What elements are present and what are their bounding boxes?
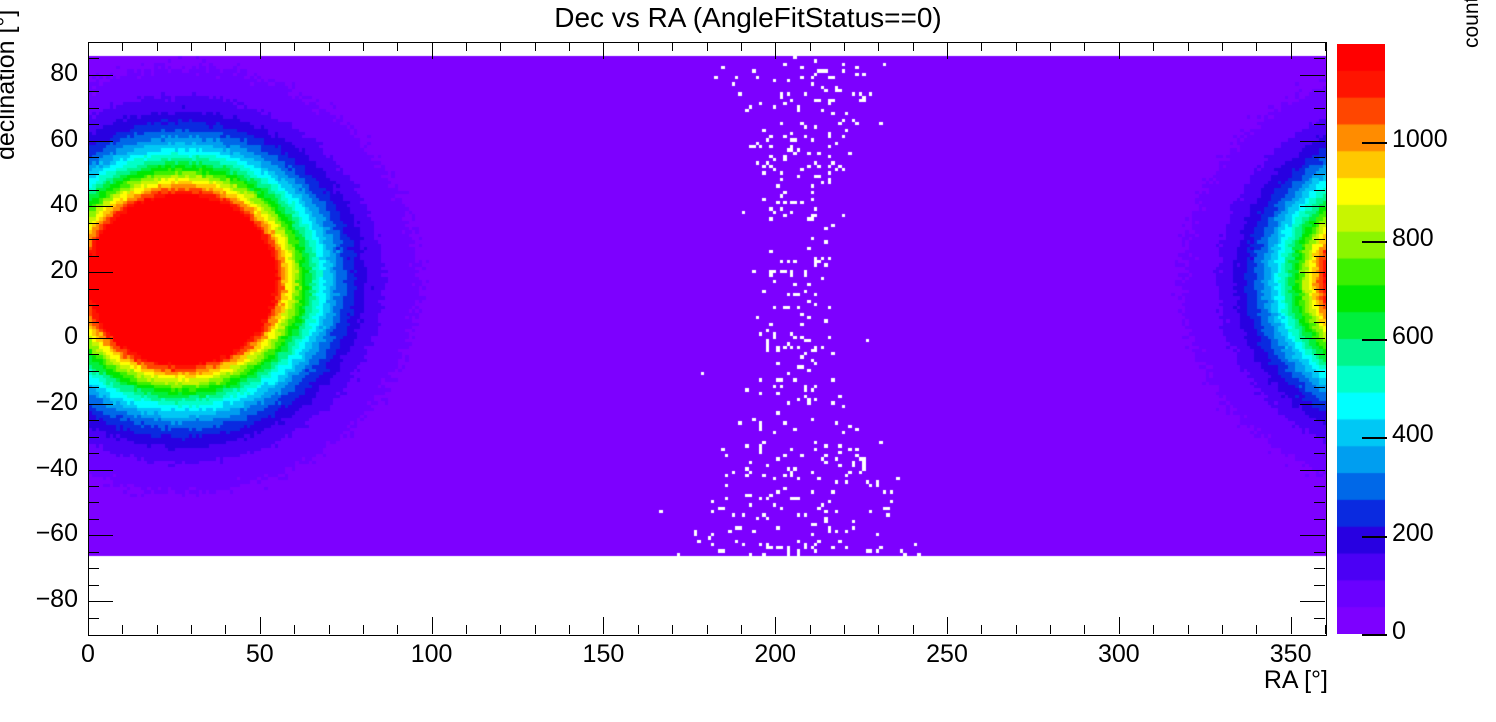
y-tick — [88, 174, 99, 175]
x-tick-top — [1222, 42, 1223, 51]
y-axis-title: declination [°] — [0, 10, 21, 160]
x-tick-top — [397, 42, 398, 51]
y-tick — [88, 190, 99, 191]
y-tick — [88, 601, 113, 602]
x-tick-top — [878, 42, 879, 51]
x-tick — [913, 625, 914, 634]
y-tick-right — [1314, 585, 1325, 586]
x-tick-top — [157, 42, 158, 51]
x-tick — [1084, 625, 1085, 634]
y-tick — [88, 437, 99, 438]
y-tick-right — [1314, 157, 1325, 158]
y-tick-right — [1300, 75, 1325, 76]
y-tick — [88, 108, 99, 109]
x-tick — [466, 625, 467, 634]
x-tick — [1222, 625, 1223, 634]
y-tick-right — [1300, 141, 1325, 142]
x-tick-top — [672, 42, 673, 51]
y-tick — [88, 618, 99, 619]
y-tick — [88, 552, 99, 553]
y-tick-right — [1314, 239, 1325, 240]
x-tick — [947, 617, 948, 634]
plot-frame — [88, 42, 1327, 636]
x-tick — [329, 625, 330, 634]
y-tick — [88, 75, 113, 76]
y-tick — [88, 519, 99, 520]
y-tick — [88, 305, 99, 306]
x-tick-top — [500, 42, 501, 51]
color-scale-tick-label: 1000 — [1392, 125, 1448, 154]
y-tick-label: 20 — [0, 256, 78, 285]
color-scale-tick — [1362, 142, 1387, 144]
x-tick-top — [1084, 42, 1085, 51]
x-tick-top — [775, 42, 776, 59]
y-tick — [88, 223, 99, 224]
color-scale-tick — [1362, 536, 1387, 538]
color-scale-tick-label: 400 — [1392, 420, 1434, 449]
y-tick — [88, 387, 99, 388]
x-tick-top — [225, 42, 226, 51]
y-tick — [88, 486, 99, 487]
y-tick-right — [1314, 256, 1325, 257]
x-tick — [500, 625, 501, 634]
y-tick-right — [1314, 552, 1325, 553]
y-tick-right — [1314, 453, 1325, 454]
color-scale-tick-label: 600 — [1392, 322, 1434, 351]
y-tick-right — [1314, 437, 1325, 438]
y-tick — [88, 568, 99, 569]
y-tick-label: 0 — [0, 322, 78, 351]
x-tick-top — [260, 42, 261, 59]
y-tick — [88, 124, 99, 125]
x-tick — [1016, 625, 1017, 634]
color-scale-tick-label: 0 — [1392, 617, 1406, 646]
x-tick — [981, 625, 982, 634]
y-tick-right — [1314, 58, 1325, 59]
color-scale-tick-label: 800 — [1392, 224, 1434, 253]
y-tick-right — [1314, 322, 1325, 323]
x-tick-top — [741, 42, 742, 51]
x-tick-label: 350 — [1231, 640, 1351, 669]
chart-title: Dec vs RA (AngleFitStatus==0) — [0, 2, 1496, 34]
x-tick — [1188, 625, 1189, 634]
x-tick — [741, 625, 742, 634]
x-tick — [878, 625, 879, 634]
x-tick — [294, 625, 295, 634]
x-tick — [122, 625, 123, 634]
y-tick-right — [1314, 420, 1325, 421]
x-tick-top — [1016, 42, 1017, 51]
x-tick-top — [191, 42, 192, 51]
x-tick-label: 100 — [372, 640, 492, 669]
color-scale-tick — [1362, 634, 1387, 636]
x-tick — [191, 625, 192, 634]
y-tick — [88, 585, 99, 586]
x-tick-top — [535, 42, 536, 51]
x-tick-top — [603, 42, 604, 59]
y-tick-right — [1314, 519, 1325, 520]
x-tick-top — [707, 42, 708, 51]
x-tick — [810, 625, 811, 634]
x-tick — [672, 625, 673, 634]
y-tick-right — [1300, 601, 1325, 602]
x-tick — [363, 625, 364, 634]
x-tick-top — [947, 42, 948, 59]
y-tick — [88, 502, 99, 503]
y-tick — [88, 420, 99, 421]
x-tick — [432, 617, 433, 634]
x-tick — [157, 625, 158, 634]
y-tick-right — [1314, 387, 1325, 388]
x-tick-top — [810, 42, 811, 51]
x-tick-label: 200 — [715, 640, 835, 669]
x-axis-title: RA [°] — [1264, 666, 1328, 695]
y-tick — [88, 535, 113, 536]
y-tick-right — [1314, 223, 1325, 224]
x-tick-top — [88, 42, 89, 59]
y-tick-right — [1300, 470, 1325, 471]
x-tick-label: 0 — [28, 640, 148, 669]
x-tick-label: 250 — [887, 640, 1007, 669]
y-tick — [88, 371, 99, 372]
x-tick — [88, 617, 89, 634]
y-tick-right — [1300, 535, 1325, 536]
y-tick — [88, 157, 99, 158]
x-tick-top — [122, 42, 123, 51]
y-tick — [88, 354, 99, 355]
y-tick — [88, 470, 113, 471]
x-tick-top — [1050, 42, 1051, 51]
y-tick — [88, 206, 113, 207]
y-tick-right — [1314, 568, 1325, 569]
y-tick — [88, 141, 113, 142]
x-tick — [1325, 625, 1326, 634]
x-tick-label: 150 — [543, 640, 663, 669]
y-tick — [88, 239, 99, 240]
y-tick-right — [1314, 305, 1325, 306]
y-tick — [88, 453, 99, 454]
y-tick-right — [1314, 108, 1325, 109]
x-tick — [535, 625, 536, 634]
x-tick-top — [569, 42, 570, 51]
y-tick-right — [1314, 91, 1325, 92]
x-tick — [1119, 617, 1120, 634]
x-tick — [260, 617, 261, 634]
y-tick-label: −20 — [0, 388, 78, 417]
chart-canvas: Dec vs RA (AngleFitStatus==0) 0501001502… — [0, 0, 1496, 722]
x-tick-top — [294, 42, 295, 51]
y-tick-right — [1300, 272, 1325, 273]
x-tick — [1256, 625, 1257, 634]
x-tick-label: 300 — [1059, 640, 1179, 669]
y-tick-right — [1314, 124, 1325, 125]
y-tick — [88, 338, 113, 339]
x-tick-top — [466, 42, 467, 51]
y-tick — [88, 289, 99, 290]
x-tick — [603, 617, 604, 634]
y-tick-right — [1314, 289, 1325, 290]
y-tick-right — [1300, 338, 1325, 339]
x-tick — [1291, 617, 1292, 634]
x-tick — [775, 617, 776, 634]
x-tick-top — [1188, 42, 1189, 51]
x-tick-top — [638, 42, 639, 51]
x-tick-top — [1119, 42, 1120, 59]
y-tick — [88, 58, 99, 59]
color-scale-tick-label: 200 — [1392, 519, 1434, 548]
color-scale-tick — [1362, 241, 1387, 243]
y-tick — [88, 256, 99, 257]
y-tick — [88, 272, 113, 273]
x-tick — [1153, 625, 1154, 634]
y-tick-label: −40 — [0, 454, 78, 483]
y-tick-right — [1314, 174, 1325, 175]
x-tick-top — [1256, 42, 1257, 51]
x-tick-top — [329, 42, 330, 51]
y-tick-right — [1314, 486, 1325, 487]
y-tick — [88, 91, 99, 92]
x-tick — [569, 625, 570, 634]
x-tick-top — [1153, 42, 1154, 51]
x-tick-top — [1325, 42, 1326, 51]
y-tick — [88, 322, 99, 323]
x-tick-top — [844, 42, 845, 51]
x-tick — [397, 625, 398, 634]
x-tick-top — [363, 42, 364, 51]
x-tick — [638, 625, 639, 634]
y-tick-right — [1314, 371, 1325, 372]
y-tick-label: 40 — [0, 190, 78, 219]
y-tick-right — [1314, 618, 1325, 619]
y-tick-right — [1314, 354, 1325, 355]
x-tick — [225, 625, 226, 634]
y-tick-right — [1314, 190, 1325, 191]
y-tick-label: −80 — [0, 585, 78, 614]
x-tick-top — [981, 42, 982, 51]
x-tick-top — [1291, 42, 1292, 59]
x-tick-top — [913, 42, 914, 51]
x-tick — [844, 625, 845, 634]
color-scale-tick — [1362, 437, 1387, 439]
y-tick — [88, 404, 113, 405]
y-tick-right — [1300, 404, 1325, 405]
x-tick — [707, 625, 708, 634]
heatmap-image — [89, 43, 1326, 635]
color-scale-tick — [1362, 339, 1387, 341]
x-tick-label: 50 — [200, 640, 320, 669]
y-tick-right — [1314, 502, 1325, 503]
y-tick-label: −60 — [0, 519, 78, 548]
color-scale-title: count — [1460, 0, 1484, 48]
y-tick-right — [1300, 206, 1325, 207]
x-tick — [1050, 625, 1051, 634]
x-tick-top — [432, 42, 433, 59]
